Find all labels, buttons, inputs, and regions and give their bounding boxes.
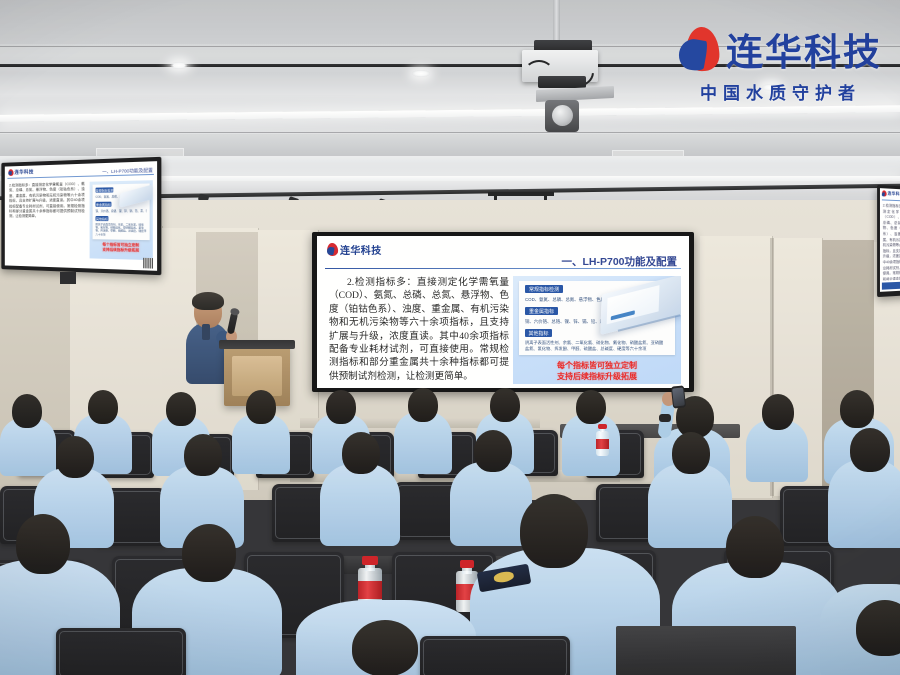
podium-top-surface bbox=[219, 340, 295, 349]
audience-head bbox=[246, 390, 276, 424]
panel-highlight-line-1: 每个指标皆可独立定制 bbox=[519, 360, 675, 371]
slide-body-text: 2.检测指标多：直接测定化学需氧量（COD）、氨氮、总磷、总氮、悬浮物、色度（铂… bbox=[329, 276, 509, 383]
audience-head bbox=[672, 432, 710, 474]
chair-back bbox=[56, 628, 186, 675]
panel-section-tag: 常规指标检测 bbox=[525, 285, 563, 293]
brand-watermark: 连华科技 中国水质守护者 bbox=[679, 22, 882, 104]
audience-head bbox=[166, 392, 196, 426]
slide-image-panel: 常规指标检测 COD、氨氮、总磷、总氮、悬浮物、色度、浊度 重金属指标 铜、六价… bbox=[513, 276, 681, 384]
mon-rule bbox=[882, 199, 900, 201]
water-bottle[interactable] bbox=[596, 424, 609, 456]
presenter-hair bbox=[192, 292, 224, 310]
mon-footer-bar bbox=[882, 281, 900, 289]
slide-title: 一、LH-P700功能及配置 bbox=[561, 254, 677, 269]
smartphone[interactable] bbox=[671, 385, 686, 408]
audience-head bbox=[16, 514, 70, 574]
mon-logo: 连华科技 bbox=[882, 190, 900, 197]
audience-shoulders bbox=[828, 460, 900, 548]
panel-section-params: 阴离子表面活性剂、余氯、二氧化氯、硫化物、氟化物、硝酸盐氮、亚硝酸盐氮、氰化物、… bbox=[525, 340, 665, 353]
mon-logo: 连华科技 bbox=[8, 168, 33, 176]
audience-head bbox=[840, 390, 874, 428]
brand-name: 连华科技 bbox=[726, 22, 882, 76]
desk-row-front bbox=[616, 626, 796, 675]
audience-head bbox=[408, 388, 438, 422]
audience-shoulders bbox=[320, 464, 400, 546]
side-monitor-right: 连华科技 2.检测指标多：直接测定化学需氧量（COD）、氨氮、总磷、总氮、悬浮物… bbox=[877, 185, 900, 297]
side-monitor-right-screen: 连华科技 2.检测指标多：直接测定化学需氧量（COD）、氨氮、总磷、总氮、悬浮物… bbox=[880, 188, 900, 292]
panel-highlight-line-2: 支持后续指标升级拓展 bbox=[519, 371, 675, 382]
water-drop-logo-icon bbox=[679, 27, 719, 71]
audience-head bbox=[474, 430, 512, 472]
ceiling-seam bbox=[0, 132, 900, 133]
audience-head bbox=[342, 432, 380, 474]
side-monitor-left-stand bbox=[60, 272, 76, 284]
panel-section-tag: 其他指标 bbox=[525, 329, 552, 337]
audience-head bbox=[88, 390, 118, 424]
wristwatch bbox=[659, 414, 671, 422]
audience-head bbox=[490, 388, 520, 422]
mon-qr-code bbox=[143, 258, 154, 269]
audience-head bbox=[184, 434, 222, 476]
audience-head bbox=[850, 428, 890, 472]
audience-head bbox=[352, 620, 418, 675]
panel-section-tag: 重金属指标 bbox=[525, 307, 558, 315]
audience-head bbox=[520, 494, 588, 568]
water-drop-logo-icon bbox=[327, 243, 338, 256]
mon-panel: 常规指标检测 COD、氨氮、总磷、总氮、悬浮物、色度、浊度 重金属指标 铜、六价… bbox=[90, 180, 153, 260]
presenter-lanyard bbox=[202, 324, 210, 340]
audience-head bbox=[12, 394, 42, 428]
presentation-slide: 连华科技 一、LH-P700功能及配置 2.检测指标多：直接测定化学需氧量（CO… bbox=[317, 236, 689, 388]
slide-brand-logo: 连华科技 bbox=[327, 242, 382, 257]
audience-head bbox=[762, 394, 794, 430]
audience-head bbox=[856, 600, 900, 656]
audience-head bbox=[576, 390, 606, 424]
slide-header-rule bbox=[325, 268, 681, 269]
side-monitor-left: 连华科技 一、LH-P700功能及配置 2.检测指标多：直接测定化学需氧量（CO… bbox=[1, 157, 161, 275]
audience-head bbox=[326, 390, 356, 424]
projector-bracket bbox=[538, 76, 586, 88]
ceiling-downlight bbox=[412, 70, 430, 77]
audience-shoulders bbox=[648, 464, 732, 548]
audience-head bbox=[182, 524, 236, 582]
audience-head bbox=[56, 436, 94, 478]
main-projection-screen: 连华科技 一、LH-P700功能及配置 2.检测指标多：直接测定化学需氧量（CO… bbox=[312, 232, 694, 392]
chair-back bbox=[420, 636, 570, 675]
conference-room-photo: 连华科技 一、LH-P700功能及配置 2.检测指标多：直接测定化学需氧量（CO… bbox=[0, 0, 900, 675]
projector-lens bbox=[545, 100, 579, 132]
side-monitor-left-screen: 连华科技 一、LH-P700功能及配置 2.检测指标多：直接测定化学需氧量（CO… bbox=[5, 161, 157, 271]
audience-head bbox=[726, 516, 784, 578]
brand-tagline: 中国水质守护者 bbox=[700, 79, 861, 104]
ceiling-downlight bbox=[170, 62, 188, 69]
